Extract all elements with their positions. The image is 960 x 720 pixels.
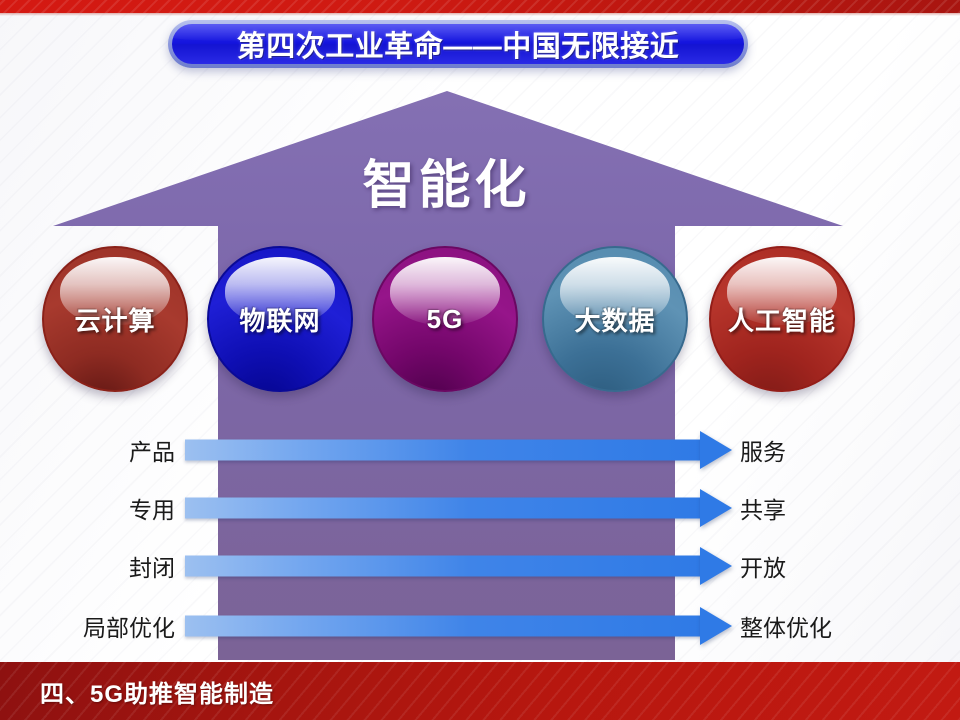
sphere-label: 物联网 [239, 301, 320, 338]
row-arrowhead [700, 431, 732, 469]
sphere-cloud-computing[interactable]: 云计算 [42, 246, 188, 392]
row-arrowhead [700, 489, 732, 527]
row-arrowhead [700, 547, 732, 585]
row-to-label: 开放 [740, 549, 786, 583]
slide-canvas: 第四次工业革命——中国无限接近 智能化 云计算 物联网 5G 大数据 人工智能 [0, 0, 960, 720]
row-bar [185, 616, 705, 637]
row-to-label: 共享 [740, 491, 786, 525]
transition-row: 专用 共享 [0, 488, 960, 528]
row-bar [185, 440, 705, 461]
row-from-label: 局部优化 [83, 609, 175, 643]
transition-row: 局部优化 整体优化 [0, 606, 960, 646]
row-left-cell: 产品 [80, 430, 175, 470]
footer-text: 四、5G助推智能制造 [40, 674, 274, 709]
row-to-label: 服务 [740, 433, 786, 467]
row-to-label: 整体优化 [740, 609, 832, 643]
slide-title: 第四次工业革命——中国无限接近 [168, 20, 748, 68]
row-bar [185, 556, 705, 577]
row-left-cell: 封闭 [80, 546, 175, 586]
row-left-cell: 局部优化 [60, 606, 175, 646]
transition-row: 封闭 开放 [0, 546, 960, 586]
footer-banner: 四、5G助推智能制造 [0, 662, 960, 720]
transition-row: 产品 服务 [0, 430, 960, 470]
sphere-5g[interactable]: 5G [372, 246, 518, 392]
sphere-label: 大数据 [574, 301, 655, 338]
row-from-label: 产品 [129, 433, 175, 467]
title-text: 第四次工业革命——中国无限接近 [237, 24, 680, 64]
sphere-label: 云计算 [74, 301, 155, 338]
sphere-ai[interactable]: 人工智能 [709, 246, 855, 392]
row-from-label: 封闭 [129, 549, 175, 583]
sphere-label: 人工智能 [728, 301, 836, 338]
row-arrowhead [700, 607, 732, 645]
title-pill: 第四次工业革命——中国无限接近 [172, 24, 744, 64]
row-left-cell: 专用 [80, 488, 175, 528]
sphere-big-data[interactable]: 大数据 [542, 246, 688, 392]
sphere-label: 5G [427, 304, 464, 335]
sphere-iot[interactable]: 物联网 [207, 246, 353, 392]
row-bar [185, 498, 705, 519]
row-from-label: 专用 [129, 491, 175, 525]
